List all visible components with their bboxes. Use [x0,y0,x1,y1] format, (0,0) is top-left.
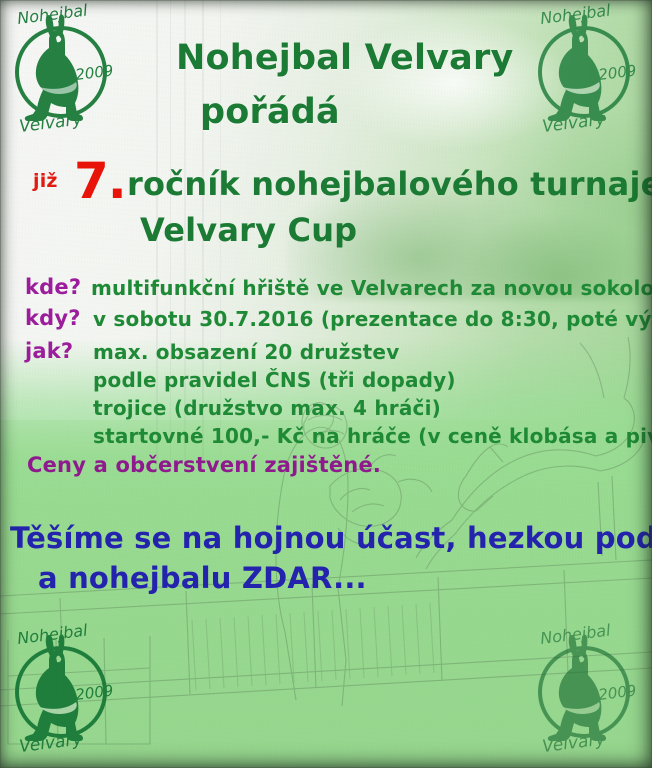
detail-value-jak-4: startovné 100,- Kč na hráče (v ceně klob… [93,424,652,448]
detail-label-kdy: kdy? [25,306,81,330]
detail-value-jak-2: podle pravidel ČNS (tři dopady) [93,368,456,392]
closing-line1: Těšíme se na hojnou účast, hezkou podíva… [10,521,652,555]
club-logo-top-left: Nohejbal 2009 Velvary [4,2,126,138]
edition-line2: Velvary Cup [140,211,357,249]
detail-value-jak-3: trojice (družstvo max. 4 hráči) [93,396,441,420]
edition-number: 7. [74,152,126,210]
detail-value-kdy: v sobotu 30.7.2016 (prezentace do 8:30, … [93,307,652,331]
poster-title-line2: pořádá [200,92,340,132]
detail-label-jak: jak? [25,339,73,363]
club-logo-bottom-left: Nohejbal 2009 Velvary [4,622,126,758]
poster-canvas: Nohejbal 2009 Velvary Nohejbal 2009 Velv… [0,0,652,768]
logo-year: 2009 [597,61,637,84]
detail-value-kde: multifunkční hřiště ve Velvarech za novo… [91,276,652,300]
detail-value-jak-1: max. obsazení 20 družstev [93,340,399,364]
prizes-note: Ceny a občerstvení zajištěné. [27,453,381,477]
edition-line1: ročník nohejbalového turnaje [127,165,652,203]
logo-year: 2009 [597,681,637,704]
logo-year: 2009 [74,61,114,84]
closing-line2: a nohejbalu ZDAR... [38,561,367,595]
club-logo-top-right: Nohejbal 2009 Velvary [527,2,649,138]
edition-prefix: již [33,170,58,192]
club-logo-bottom-right: Nohejbal 2009 Velvary [527,622,649,758]
poster-title-line1: Nohejbal Velvary [176,38,513,78]
detail-label-kde: kde? [25,275,81,299]
logo-year: 2009 [74,681,114,704]
